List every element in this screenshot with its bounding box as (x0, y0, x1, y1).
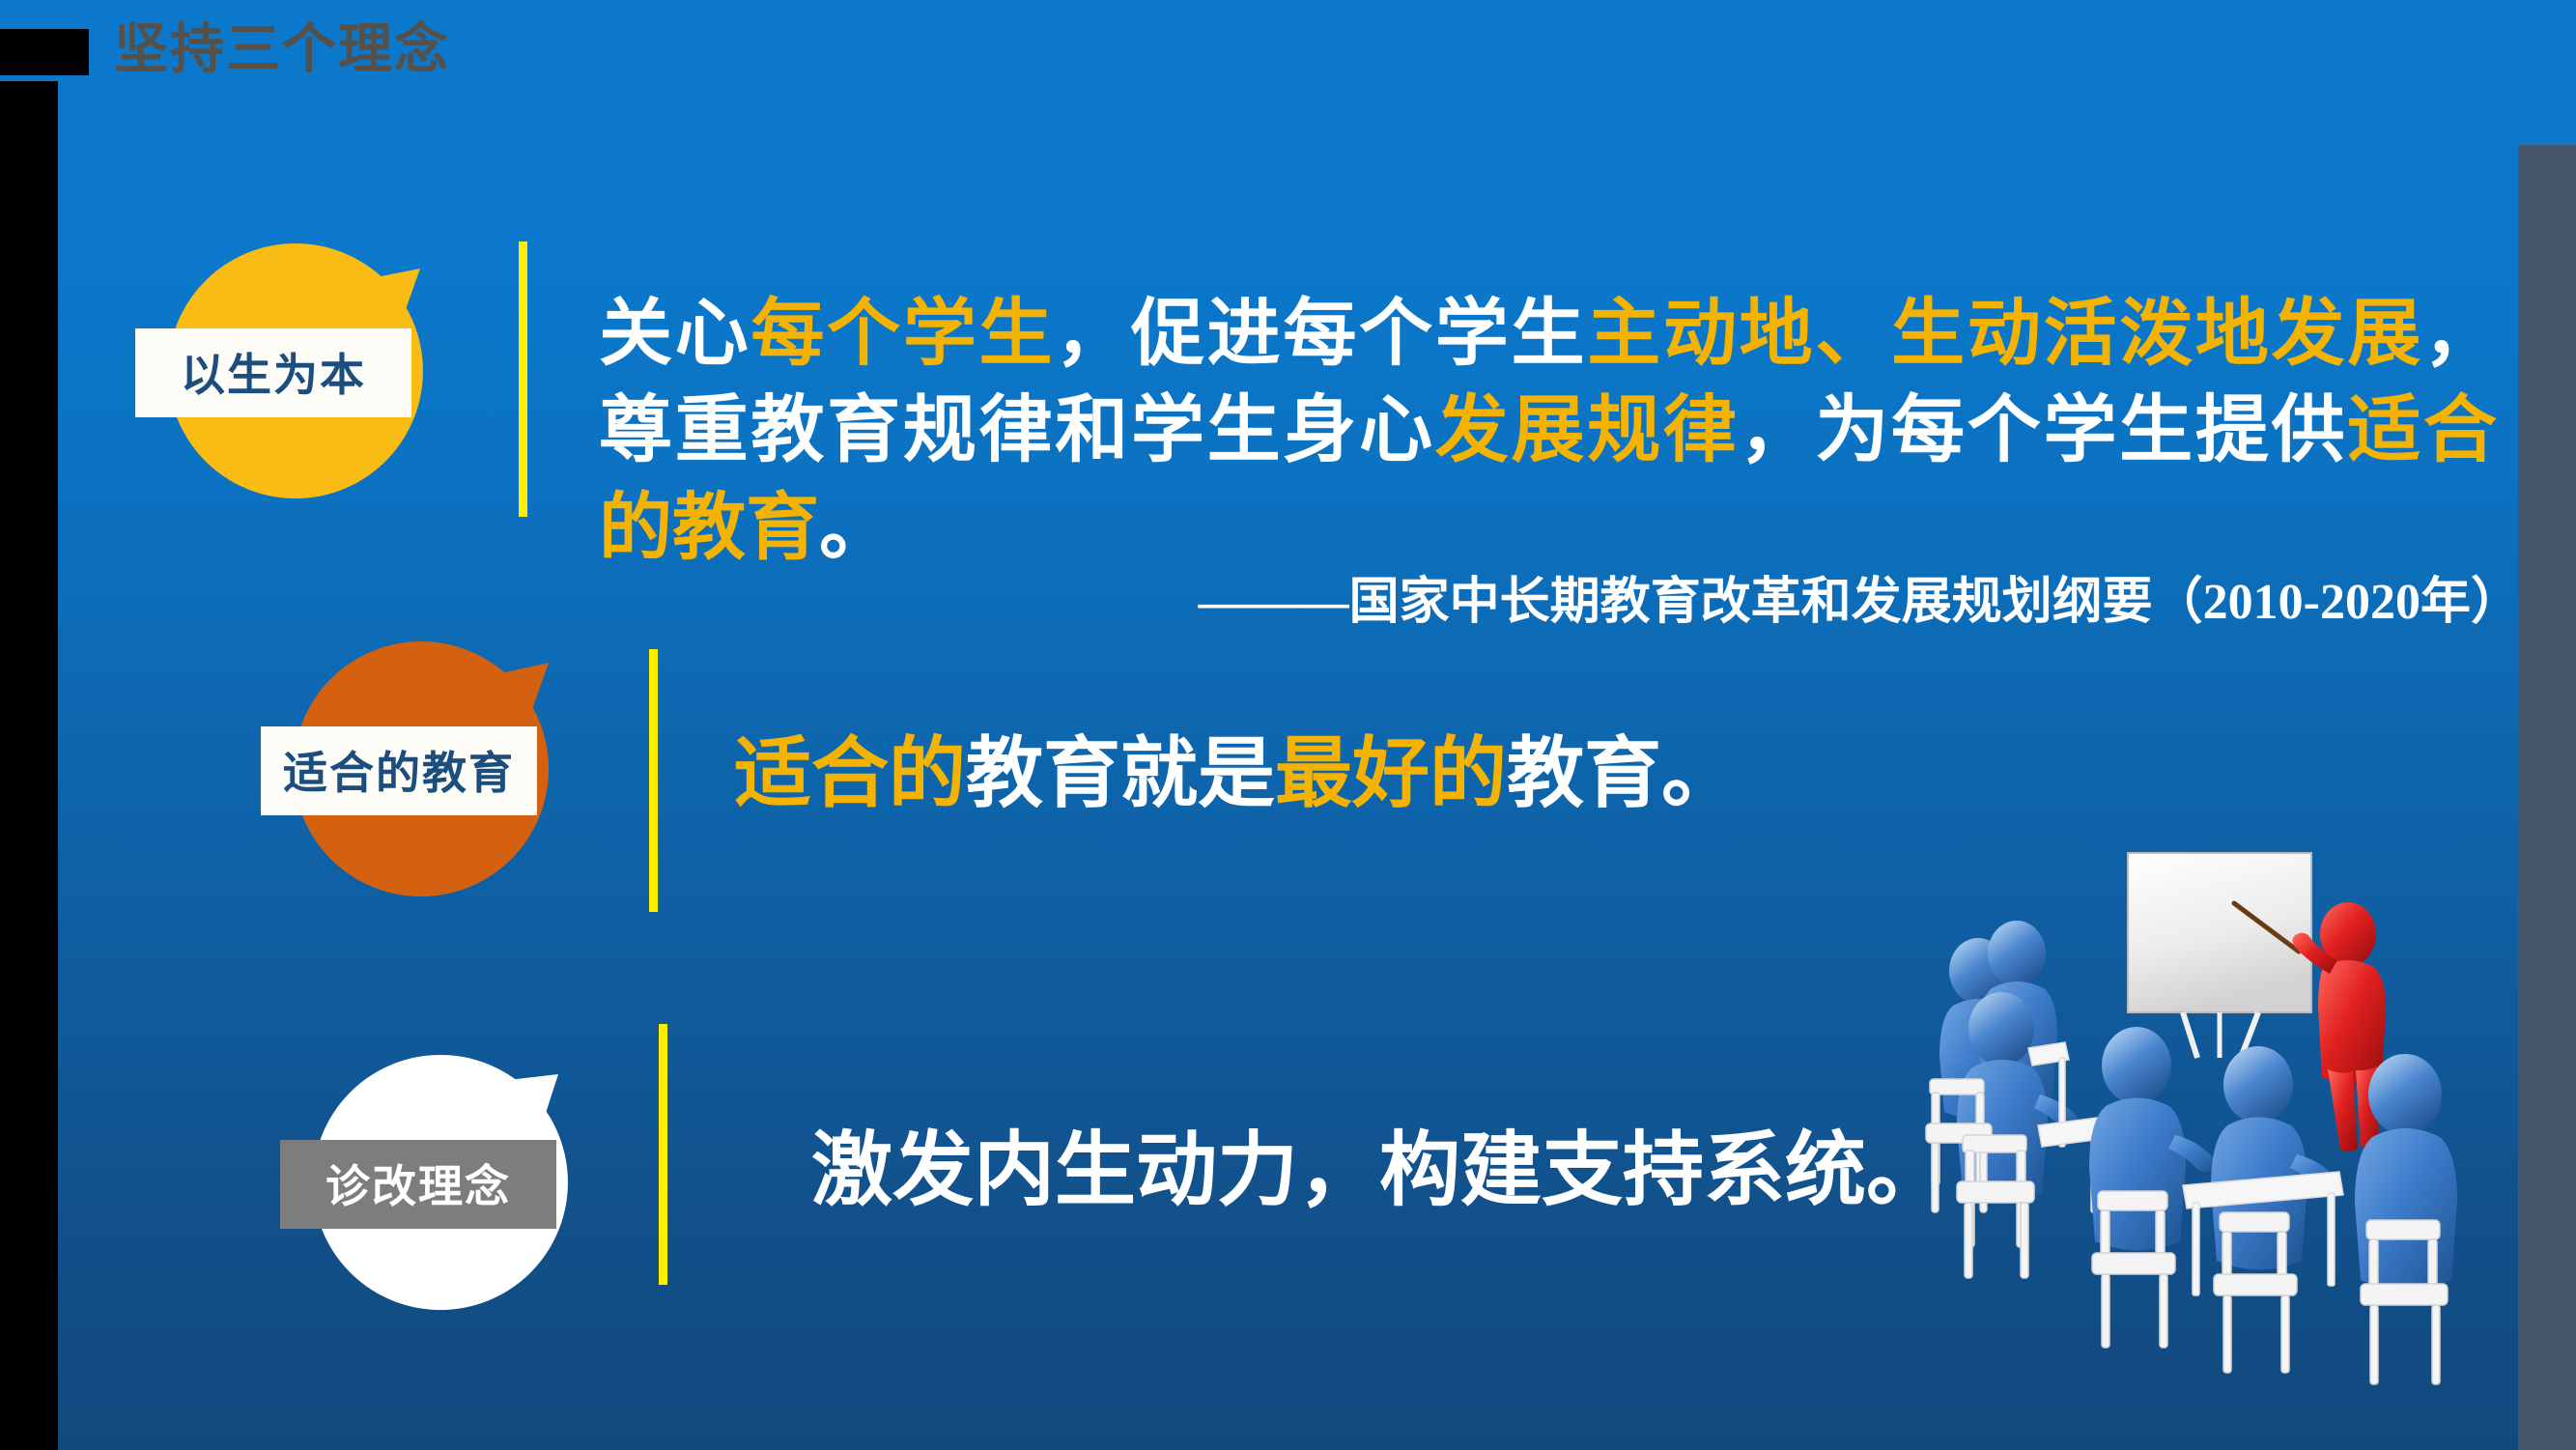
slide-title: 坚持三个理念 (114, 19, 450, 79)
badge-shi-he-de-jiao-yu[interactable]: 适合的教育 (290, 638, 552, 900)
decor-bar-top-left (0, 29, 89, 75)
divider-line-1 (519, 242, 527, 517)
classroom-training-illustration (1893, 816, 2492, 1435)
highlighted-text-run: 最好的 (1275, 732, 1507, 817)
presenter-figure-red (2292, 902, 2386, 1151)
presentation-slide: 坚持三个理念 以生为本 适合的教育 诊改理念 关心每个学生，促进每个学生主动地、… (0, 0, 2576, 1450)
body-paragraph-2: 适合的教育就是最好的教育。 (734, 725, 1739, 827)
highlighted-text-run: 发展规律 (1435, 390, 1740, 471)
highlighted-text-run: 适合的 (734, 732, 966, 817)
paragraph-3-line-1: 激发内生动力，构建支持系统。 (811, 1126, 1947, 1216)
divider-line-2 (649, 649, 658, 912)
text-run: ，促进每个学生 (1055, 294, 1587, 375)
badge-label-3: 诊改理念 (280, 1140, 556, 1229)
text-run: 激发内生动力，构建支持系统。 (811, 1126, 1947, 1216)
text-run: 教育。 (1507, 732, 1739, 817)
highlighted-text-run: 每个学生 (750, 294, 1055, 375)
paragraph-1-line-2: 教育规律和学生身心发展规律，为每个学生提供适合的教育。 (599, 390, 2497, 568)
badge-zhen-gai-li-nian[interactable]: 诊改理念 (309, 1051, 572, 1314)
decor-bar-left-edge (0, 81, 58, 1450)
text-run: 。 (819, 488, 892, 569)
decor-bar-right-edge (2518, 145, 2576, 1450)
badge-label-2: 适合的教育 (261, 726, 537, 815)
badge-yi-sheng-wei-ben[interactable]: 以生为本 (164, 240, 427, 502)
text-run: 教育规律和学生身心 (750, 390, 1434, 471)
body-paragraph-3: 激发内生动力，构建支持系统。 (811, 1119, 1947, 1226)
body-paragraph-1: 关心每个学生，促进每个学生主动地、生动活泼地发展，尊重教育规律和学生身心发展规律… (599, 286, 2497, 577)
citation-source: ———国家中长期教育改革和发展规划纲要（2010-2020年） (599, 560, 2521, 633)
text-run: ，为每个学生提供 (1740, 390, 2348, 471)
paragraph-2-line-1: 适合的教育就是最好的教育。 (734, 732, 1739, 817)
whiteboard-icon (2128, 853, 2311, 1058)
divider-line-3 (659, 1024, 667, 1285)
text-run: 关心 (599, 294, 750, 375)
highlighted-text-run: 主动地、生动活泼地发展 (1587, 294, 2423, 375)
badge-label-1: 以生为本 (135, 328, 411, 417)
text-run: 教育就是 (966, 732, 1275, 817)
